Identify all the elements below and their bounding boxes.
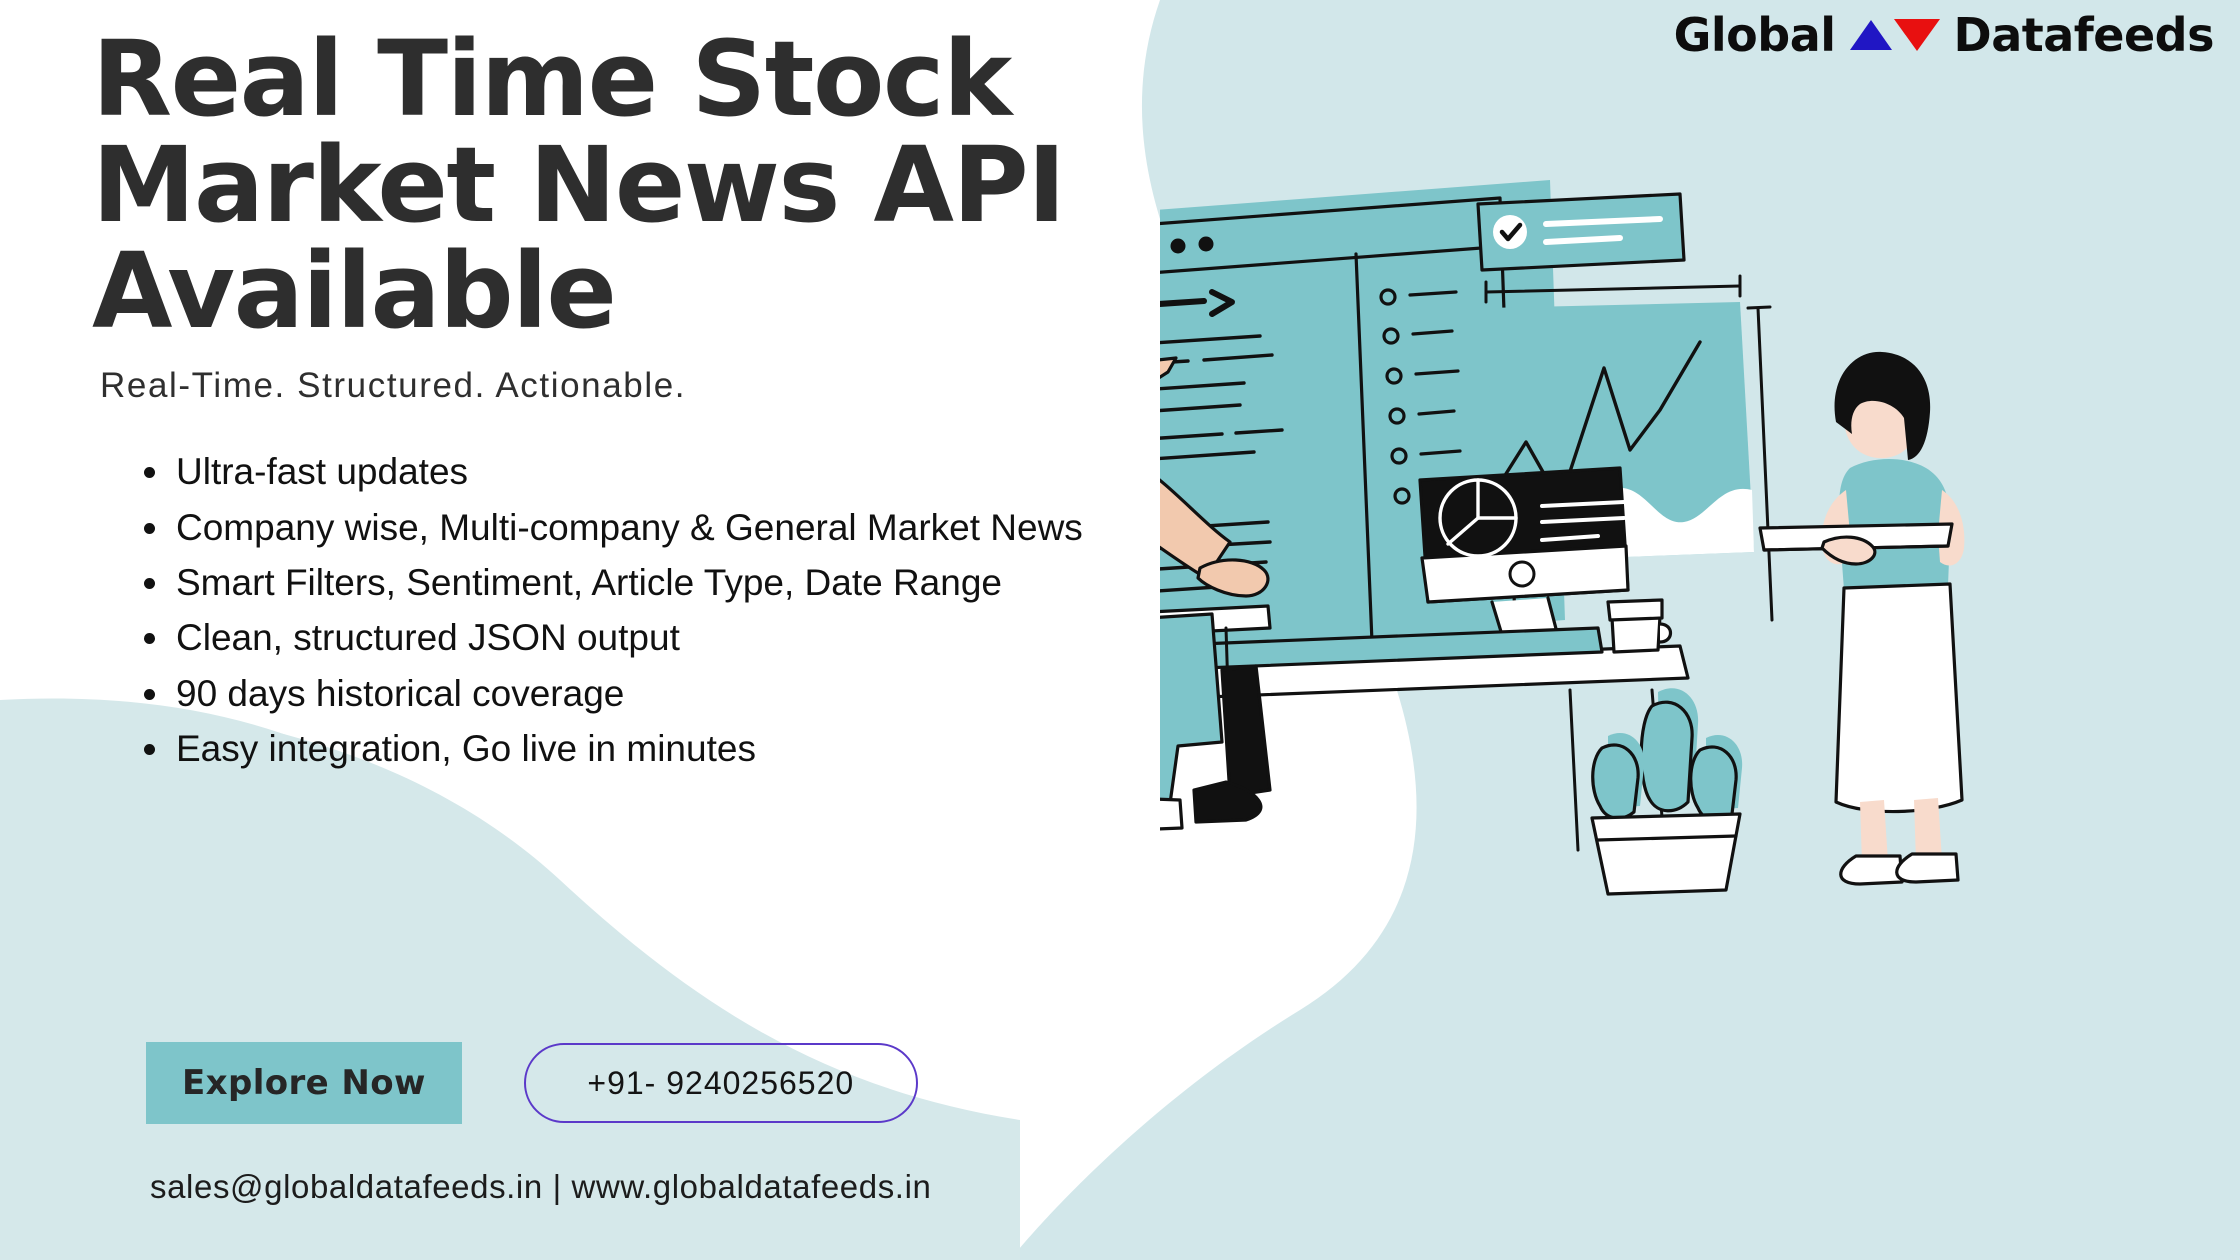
cta-row: Explore Now +91- 9240256520 [146, 1042, 918, 1124]
list-item: Ultra-fast updates [136, 448, 1136, 495]
page-title: Real Time Stock Market News API Availabl… [92, 26, 1172, 344]
feature-list: Ultra-fast updates Company wise, Multi-c… [136, 448, 1172, 772]
list-item: Clean, structured JSON output [136, 614, 1136, 661]
desk-rod [1570, 690, 1578, 850]
brand-name-left: Global [1674, 8, 1836, 62]
list-item: 90 days historical coverage [136, 670, 1136, 717]
brand-logo[interactable]: Global Datafeeds [1674, 8, 2214, 62]
check-circle-icon [1493, 215, 1527, 249]
woman-with-tray [1760, 352, 1964, 884]
triangle-down-icon [1894, 19, 1940, 51]
potted-cactus [1592, 688, 1742, 894]
brand-name-right: Datafeeds [1954, 8, 2214, 62]
promo-banner: Global Datafeeds [0, 0, 2240, 1260]
checklist-card [1478, 194, 1684, 270]
list-item: Company wise, Multi-company & General Ma… [136, 504, 1136, 551]
brand-markers [1850, 19, 1940, 51]
phone-button[interactable]: +91- 9240256520 [524, 1043, 918, 1123]
subheadline: Real-Time. Structured. Actionable. [100, 366, 1172, 406]
hero-copy: Real Time Stock Market News API Availabl… [92, 26, 1172, 780]
window-dot [1199, 237, 1214, 252]
list-item: Easy integration, Go live in minutes [136, 725, 1136, 772]
explore-now-button[interactable]: Explore Now [146, 1042, 462, 1124]
window-dot [1171, 239, 1186, 254]
dimension-bracket-right [1748, 307, 1772, 620]
contact-line[interactable]: sales@globaldatafeeds.in | www.globaldat… [150, 1168, 931, 1206]
triangle-up-icon [1850, 20, 1892, 50]
list-item: Smart Filters, Sentiment, Article Type, … [136, 559, 1136, 606]
coffee-cup [1608, 600, 1671, 652]
hero-illustration [1160, 150, 2240, 950]
